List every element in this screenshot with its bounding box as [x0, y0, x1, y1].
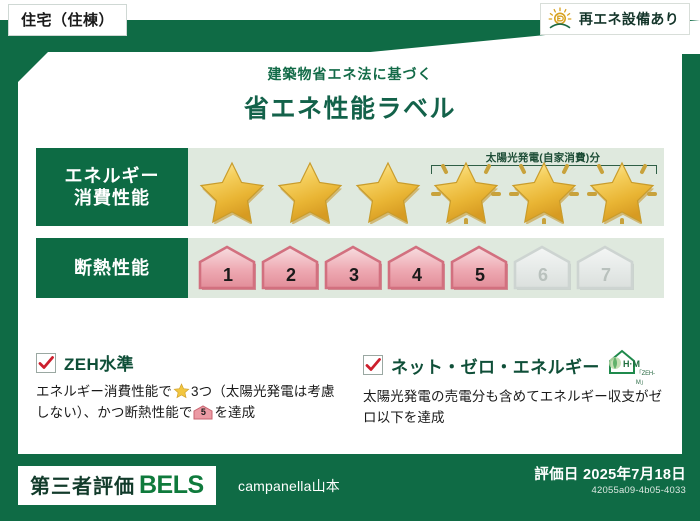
insulation-grade-number: 7: [576, 265, 636, 286]
zeh-note-header: ZEH水準: [36, 350, 341, 375]
zeh-note-title: ZEH水準: [64, 350, 134, 375]
insulation-performance-label: 断熱性能: [36, 238, 188, 298]
star-icon: [173, 383, 190, 399]
energy-performance-row: エネルギー 消費性能 太陽光発電(自家消費)分: [36, 148, 664, 226]
heading-main: 省エネ性能ラベル: [0, 89, 700, 125]
energy-performance-label: エネルギー 消費性能: [36, 148, 188, 226]
renewable-badge-label: 再エネ設備あり: [579, 9, 679, 29]
insulation-grade-inline-badge: 5: [193, 405, 213, 420]
star-icon: [350, 158, 426, 224]
zeh-m-logo: H·M 「ZEH-M」: [606, 350, 662, 380]
insulation-grade-2: 2: [261, 245, 321, 291]
insulation-grade-7: 7: [576, 245, 636, 291]
insulation-grade-number: 1: [198, 265, 258, 286]
zeh-m-logo-caption: 「ZEH-M」: [636, 368, 662, 386]
evaluation-date-value: 2025年7月18日: [583, 467, 686, 483]
bels-energy-label: 住宅（住棟） 再エネ設備あり 建築物省エネ法に基づく 省エネ性能ラベル: [0, 0, 700, 521]
star-3: [350, 158, 426, 224]
renewable-energy-badge: 再エネ設備あり: [540, 3, 690, 35]
third-party-label-jp: 第三者評価: [30, 470, 135, 499]
insulation-grade-4: 4: [387, 245, 447, 291]
insulation-grade-5: 5: [450, 245, 510, 291]
energy-label-line2: 消費性能: [74, 187, 150, 210]
solar-sparkle-icon: [506, 158, 582, 224]
nze-note-header: ネット・ゼロ・エネルギー H·M 「ZEH-M」: [363, 350, 668, 380]
insulation-performance-row: 断熱性能 1234567: [36, 238, 664, 298]
insulation-grade-number: 2: [261, 265, 321, 286]
zeh-note-body: エネルギー消費性能で3つ（太陽光発電は考慮しない）、かつ断熱性能で5を達成: [36, 382, 341, 424]
inline-badge-number: 5: [193, 405, 213, 420]
performance-rows: エネルギー 消費性能 太陽光発電(自家消費)分 断熱性能 1234567: [36, 148, 664, 298]
bels-logo-text: BELS: [139, 471, 204, 500]
label-footer: 第三者評価 BELS campanella山本 評価日 2025年7月18日 4…: [0, 454, 700, 521]
net-zero-energy-note: ネット・ゼロ・エネルギー H·M 「ZEH-M」 太陽光発電の売電分も含めてエネ…: [363, 350, 668, 429]
label-heading: 建築物省エネ法に基づく 省エネ性能ラベル: [0, 64, 700, 125]
third-party-evaluation-box: 第三者評価 BELS: [18, 466, 216, 505]
insulation-grade-scale: 1234567: [188, 245, 636, 291]
solar-sparkle-icon: [428, 158, 504, 224]
star-6: [584, 158, 660, 224]
insulation-label-text: 断熱性能: [74, 257, 150, 280]
sun-icon: [547, 7, 573, 31]
insulation-grade-number: 3: [324, 265, 384, 286]
star-icon: [272, 158, 348, 224]
insulation-grade-number: 4: [387, 265, 447, 286]
owner-name: campanella山本: [238, 476, 340, 496]
zeh-standard-note: ZEH水準 エネルギー消費性能で3つ（太陽光発電は考慮しない）、かつ断熱性能で5…: [36, 350, 341, 429]
zeh-body-pre: エネルギー消費性能で: [36, 384, 172, 399]
star-5: [506, 158, 582, 224]
insulation-grade-3: 3: [324, 245, 384, 291]
evaluation-date: 評価日 2025年7月18日: [534, 463, 686, 484]
solar-sparkle-icon: [584, 158, 660, 224]
zeh-checkbox: [36, 353, 56, 373]
star-2: [272, 158, 348, 224]
nze-checkbox: [363, 355, 383, 375]
heading-subtitle: 建築物省エネ法に基づく: [0, 64, 700, 84]
evaluation-date-label: 評価日: [534, 467, 578, 483]
criteria-notes: ZEH水準 エネルギー消費性能で3つ（太陽光発電は考慮しない）、かつ断熱性能で5…: [36, 350, 668, 429]
check-icon: [364, 356, 382, 374]
energy-star-rating: [188, 158, 660, 224]
energy-label-line1: エネルギー: [65, 165, 160, 188]
zeh-body-post: を達成: [214, 405, 255, 420]
star-4: [428, 158, 504, 224]
insulation-grade-6: 6: [513, 245, 573, 291]
insulation-grade-number: 5: [450, 265, 510, 286]
insulation-grade-number: 6: [513, 265, 573, 286]
energy-performance-body: 太陽光発電(自家消費)分: [188, 148, 664, 226]
insulation-grade-1: 1: [198, 245, 258, 291]
building-type-tag: 住宅（住棟）: [8, 4, 127, 36]
nze-note-body: 太陽光発電の売電分も含めてエネルギー収支がゼロ以下を達成: [363, 387, 668, 429]
insulation-performance-body: 1234567: [188, 238, 664, 298]
evaluation-id: 42055a09-4b05-4033: [592, 485, 686, 496]
check-icon: [37, 354, 55, 372]
star-icon: [194, 158, 270, 224]
nze-note-title: ネット・ゼロ・エネルギー: [391, 353, 600, 378]
star-1: [194, 158, 270, 224]
